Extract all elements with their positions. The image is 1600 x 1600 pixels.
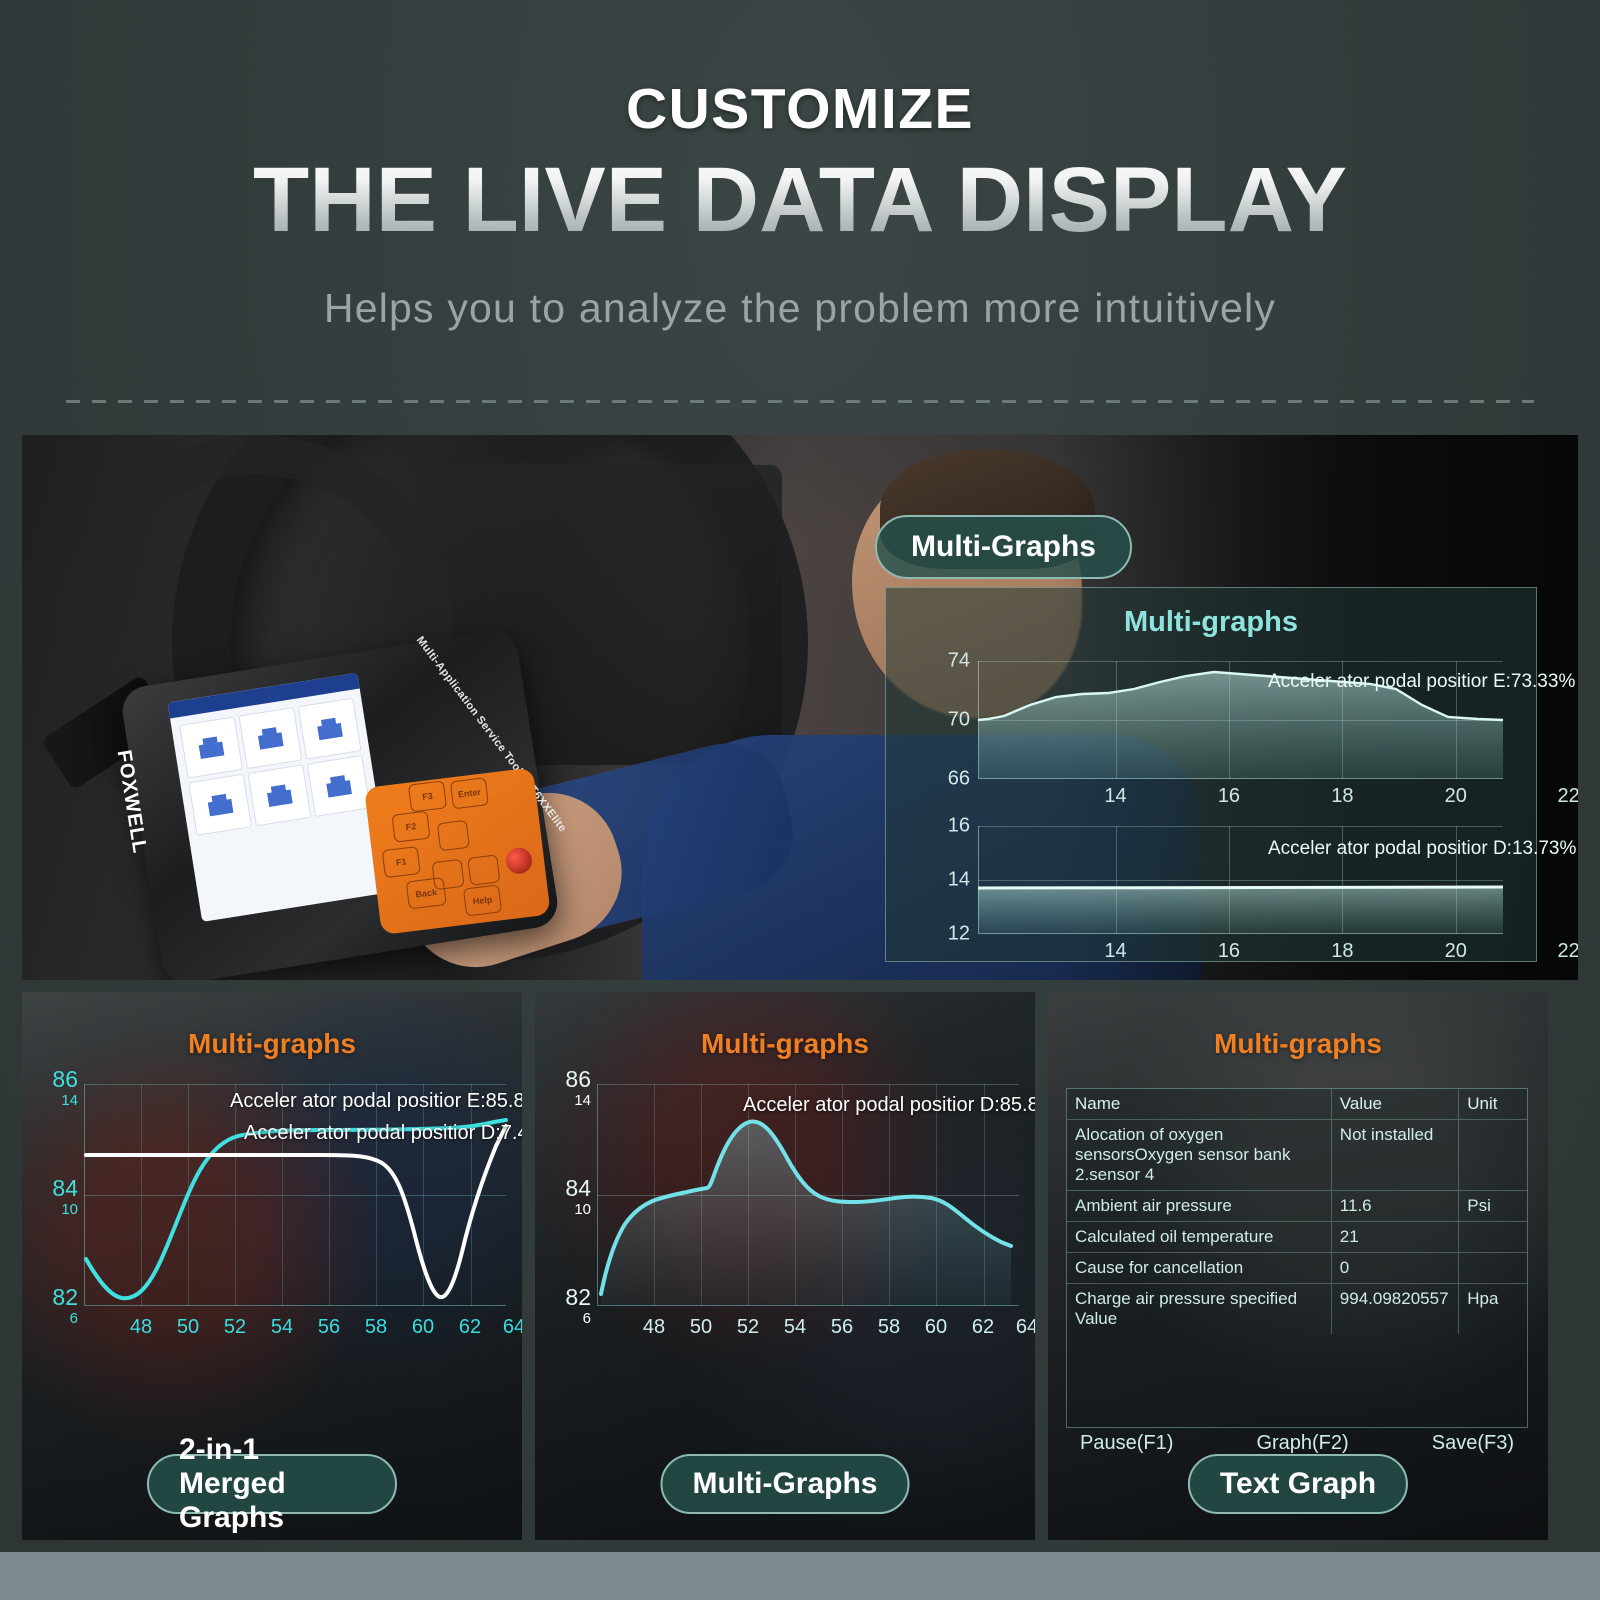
panel-2-xtick: 62 [972, 1316, 994, 1339]
scanner-keypad: F1 F2 F3 Back Enter Help [364, 767, 551, 935]
hero-photo-panel: FOXWELL Multi-Application Service Tools … [22, 435, 1578, 980]
hero-top-xtick: 20 [1445, 785, 1467, 808]
hero-top-ytick: 70 [920, 709, 970, 732]
pause-button[interactable]: Pause(F1) [1080, 1432, 1173, 1455]
hero-top-ytick: 74 [920, 650, 970, 673]
panel-1-ytick-82: 826 [32, 1286, 78, 1326]
panel-3-chart-title: Multi-graphs [1048, 1028, 1548, 1060]
datamanager-icon [266, 784, 293, 808]
hero-top-xtick: 16 [1218, 785, 1240, 808]
cell-value: Not installed [1332, 1120, 1459, 1190]
panel-1-pill[interactable]: 2-in-1 Merged Graphs [147, 1454, 397, 1514]
obd-scanner-device: FOXWELL Multi-Application Service Tools … [119, 628, 561, 980]
column-header-value: Value [1332, 1089, 1459, 1119]
hero-bottom-xtick: 20 [1445, 940, 1467, 963]
hero-bottom-xtick: 22 [1558, 940, 1579, 963]
table-footer-buttons: Pause(F1) Graph(F2) Save(F3) [1066, 1432, 1528, 1455]
panel-1-series-label-d: Acceler ator podal positior D:7.45% [244, 1122, 522, 1145]
table-row[interactable]: Calculated oil temperature 21 [1067, 1222, 1527, 1253]
panel-2-series-label: Acceler ator podal positior D:85.88% [743, 1094, 1035, 1117]
panel-1-ytick-86: 8614 [32, 1068, 78, 1108]
panel-2-series [597, 1084, 1019, 1306]
menu-tile [188, 774, 252, 836]
cell-value: 21 [1332, 1222, 1459, 1252]
panel-2-xtick: 54 [784, 1316, 806, 1339]
hero-top-series-label: Acceler ator podal positior E:73.33% [1268, 671, 1575, 693]
graph-button[interactable]: Graph(F2) [1256, 1432, 1348, 1455]
hero-top-xtick: 22 [1558, 785, 1579, 808]
cell-unit: Hpa [1459, 1284, 1527, 1334]
panel-2-ytick-84: 8410 [545, 1177, 591, 1217]
hero-bottom-ytick: 16 [920, 815, 970, 838]
hero-bottom-xtick: 14 [1104, 940, 1126, 963]
panel-1-ytick-84: 8410 [32, 1177, 78, 1217]
panel-2-chart-title: Multi-graphs [535, 1028, 1035, 1060]
table-row[interactable]: Alocation of oxygen sensorsOxygen sensor… [1067, 1120, 1527, 1191]
panel-1-xtick: 58 [365, 1316, 387, 1339]
key-enter[interactable]: Enter [450, 777, 489, 809]
hero-top-ytick: 66 [920, 768, 970, 791]
hero-top-xtick: 14 [1104, 785, 1126, 808]
column-header-unit: Unit [1459, 1089, 1527, 1119]
cell-unit: Psi [1459, 1191, 1527, 1221]
hero-bottom-series-label: Acceler ator podal positior D:13.73% [1268, 838, 1576, 860]
panel-3-pill[interactable]: Text Graph [1188, 1454, 1408, 1514]
page-subtitle: Helps you to analyze the problem more in… [0, 249, 1600, 332]
menu-tile [307, 755, 371, 817]
panel-2-xtick: 64 [1016, 1316, 1035, 1339]
panel-2-xtick: 48 [643, 1316, 665, 1339]
panel-2-ytick-86: 8614 [545, 1068, 591, 1108]
panel-multi-graphs: Multi-graphs [535, 992, 1035, 1540]
panel-1-xtick: 50 [177, 1316, 199, 1339]
section-divider [66, 400, 1534, 403]
panel-2-chart: Acceler ator podal positior D:85.88% [597, 1084, 1019, 1306]
panel-2-pill[interactable]: Multi-Graphs [661, 1454, 910, 1514]
key-f1[interactable]: F1 [382, 846, 421, 878]
menu-tile [238, 707, 302, 769]
panel-1-xtick: 64 [503, 1316, 522, 1339]
hero-top-xtick: 18 [1331, 785, 1353, 808]
cell-unit [1459, 1222, 1527, 1252]
table-row[interactable]: Ambient air pressure 11.6 Psi [1067, 1191, 1527, 1222]
panel-2-xtick: 52 [737, 1316, 759, 1339]
cell-name: Cause for cancellation [1067, 1253, 1332, 1283]
key-f2[interactable]: F2 [391, 811, 430, 843]
panel-1-xtick: 52 [224, 1316, 246, 1339]
panel-1-xtick: 56 [318, 1316, 340, 1339]
live-data-table: Name Value Unit Alocation of oxygen sens… [1066, 1088, 1528, 1428]
cell-value: 0 [1332, 1253, 1459, 1283]
feature-panels: Multi-graphs Acceler ator podal positior… [0, 992, 1600, 1552]
bottom-band [0, 1552, 1600, 1600]
hero-chart-top: Acceler ator podal positior E:73.33% 74 … [978, 661, 1503, 779]
menu-tile [179, 716, 243, 778]
page-kicker: CUSTOMIZE [0, 0, 1600, 142]
menu-tile [298, 698, 362, 760]
panel-2-xtick: 60 [925, 1316, 947, 1339]
key-nav-right[interactable] [467, 854, 500, 885]
page-title: THE LIVE DATA DISPLAY [0, 142, 1600, 249]
panel-merged-graphs: Multi-graphs Acceler ator podal positior… [22, 992, 522, 1540]
panel-1-xtick: 48 [130, 1316, 152, 1339]
panel-1-xtick: 62 [459, 1316, 481, 1339]
panel-1-xtick: 54 [271, 1316, 293, 1339]
table-row[interactable]: Charge air pressure specified Value 994.… [1067, 1284, 1527, 1334]
cell-unit [1459, 1120, 1527, 1190]
cell-name: Ambient air pressure [1067, 1191, 1332, 1221]
column-header-name: Name [1067, 1089, 1332, 1119]
cell-name: Charge air pressure specified Value [1067, 1284, 1332, 1334]
obd-icon [325, 774, 352, 798]
cell-name: Alocation of oxygen sensorsOxygen sensor… [1067, 1120, 1332, 1190]
key-nav-left[interactable] [432, 859, 465, 890]
gear-icon [207, 793, 234, 817]
panel-text-graph: Multi-graphs Name Value Unit Alocation o… [1048, 992, 1548, 1540]
panel-2-ytick-82: 826 [545, 1286, 591, 1326]
diagnostics-icon [198, 736, 225, 760]
hero-bottom-ytick: 14 [920, 869, 970, 892]
table-row[interactable]: Cause for cancellation 0 [1067, 1253, 1527, 1284]
table-header-row: Name Value Unit [1067, 1089, 1527, 1120]
cell-unit [1459, 1253, 1527, 1283]
hero-multigraphs-pill[interactable]: Multi-Graphs [875, 515, 1132, 579]
panel-1-chart-title: Multi-graphs [22, 1028, 522, 1060]
hero-bottom-ytick: 12 [920, 923, 970, 946]
hero-chart-card: Multi-graphs Acceler ator podal posi [885, 587, 1537, 962]
battery-icon [316, 717, 343, 741]
panel-2-xtick: 56 [831, 1316, 853, 1339]
key-nav-up[interactable] [437, 820, 470, 851]
panel-1-chart: Acceler ator podal positior E:85.88% Acc… [84, 1084, 506, 1306]
diagnostics-icon [257, 726, 284, 750]
panel-1-xtick: 60 [412, 1316, 434, 1339]
panel-2-xtick: 58 [878, 1316, 900, 1339]
save-button[interactable]: Save(F3) [1432, 1432, 1514, 1455]
cell-value: 994.09820557 [1332, 1284, 1459, 1334]
hero-chart-bottom: Acceler ator podal positior D:13.73% 16 … [978, 826, 1503, 934]
hero-chart-title: Multi-graphs [886, 606, 1536, 639]
scanner-screen [168, 673, 392, 922]
power-button[interactable] [504, 846, 533, 875]
menu-tile [248, 764, 312, 826]
panel-2-xtick: 50 [690, 1316, 712, 1339]
header: CUSTOMIZE THE LIVE DATA DISPLAY Helps yo… [0, 0, 1600, 435]
cell-name: Calculated oil temperature [1067, 1222, 1332, 1252]
hero-bottom-xtick: 18 [1331, 940, 1353, 963]
key-f3[interactable]: F3 [408, 780, 447, 812]
key-help[interactable]: Help [463, 884, 502, 916]
hero-bottom-xtick: 16 [1218, 940, 1240, 963]
cell-value: 11.6 [1332, 1191, 1459, 1221]
panel-1-series-label-e: Acceler ator podal positior E:85.88% [230, 1090, 522, 1113]
panel-1-series [84, 1084, 506, 1306]
